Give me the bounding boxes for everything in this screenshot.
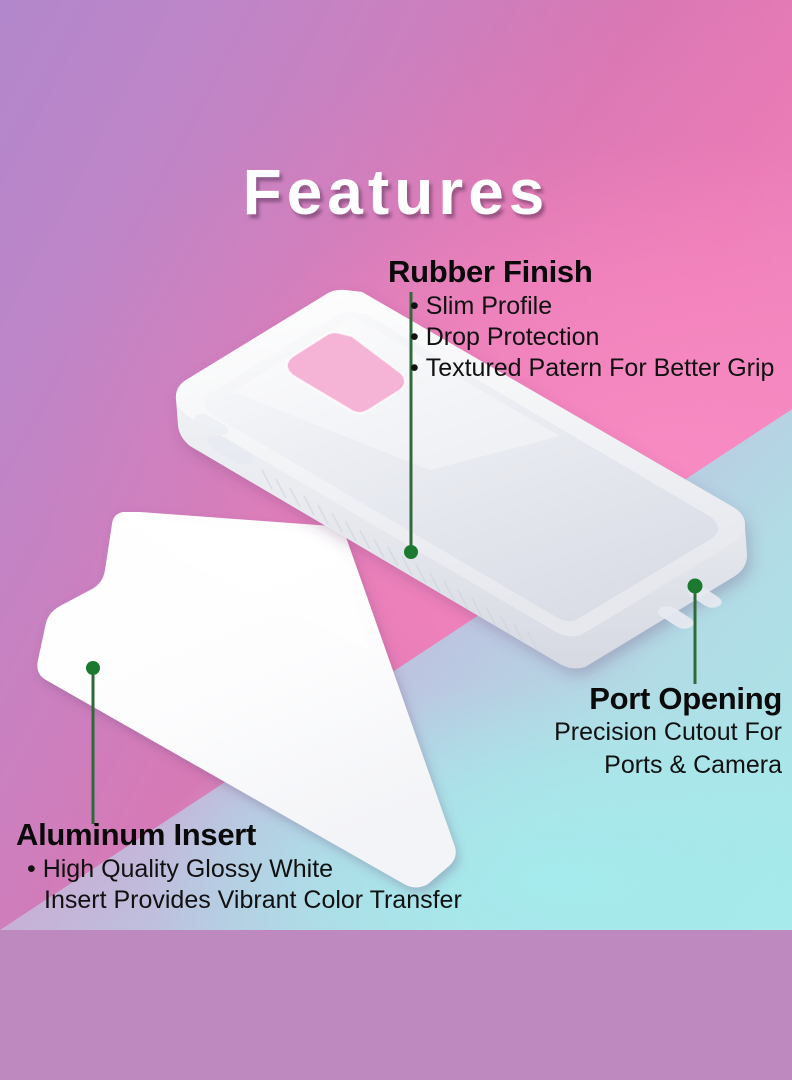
- bottom-color-bar: [0, 930, 792, 1080]
- bullet-marker: •: [410, 292, 426, 320]
- feature-heading-aluminum-insert: Aluminum Insert: [16, 818, 516, 851]
- feature-bullet: • Drop Protection: [410, 322, 784, 353]
- bullet-text: Textured Patern For Better Grip: [426, 354, 775, 382]
- feature-block-aluminum-insert: Aluminum Insert • High Quality Glossy Wh…: [16, 818, 516, 916]
- bullet-marker: •: [27, 855, 43, 883]
- feature-bullet: • High Quality Glossy White: [27, 854, 516, 885]
- feature-block-port-opening: Port Opening Precision Cutout For Ports …: [452, 682, 782, 781]
- feature-heading-rubber-finish: Rubber Finish: [388, 255, 784, 288]
- background-cyan-glow: [0, 0, 792, 930]
- bullet-text: Drop Protection: [426, 323, 600, 351]
- bullet-text: High Quality Glossy White: [43, 855, 333, 883]
- feature-bullet-list-aluminum-insert: • High Quality Glossy White Insert Provi…: [16, 854, 516, 916]
- feature-block-rubber-finish: Rubber Finish • Slim Profile • Drop Prot…: [388, 255, 784, 384]
- bullet-marker: •: [410, 354, 426, 382]
- bullet-marker: •: [410, 323, 426, 351]
- feature-bullet-list-rubber-finish: • Slim Profile • Drop Protection • Textu…: [388, 291, 784, 384]
- page-title: Features: [0, 160, 792, 224]
- feature-bullet: • Slim Profile: [410, 291, 784, 322]
- feature-text-line: Ports & Camera: [452, 750, 782, 781]
- feature-text-line: Precision Cutout For: [452, 717, 782, 748]
- features-infographic: Features Rubber Finish • Slim Profile • …: [0, 0, 792, 1080]
- feature-bullet-continuation: Insert Provides Vibrant Color Transfer: [27, 885, 516, 916]
- bullet-text: Slim Profile: [426, 292, 552, 320]
- bullet-text: Insert Provides Vibrant Color Transfer: [44, 886, 462, 914]
- feature-bullet: • Textured Patern For Better Grip: [410, 353, 784, 384]
- feature-heading-port-opening: Port Opening: [452, 682, 782, 715]
